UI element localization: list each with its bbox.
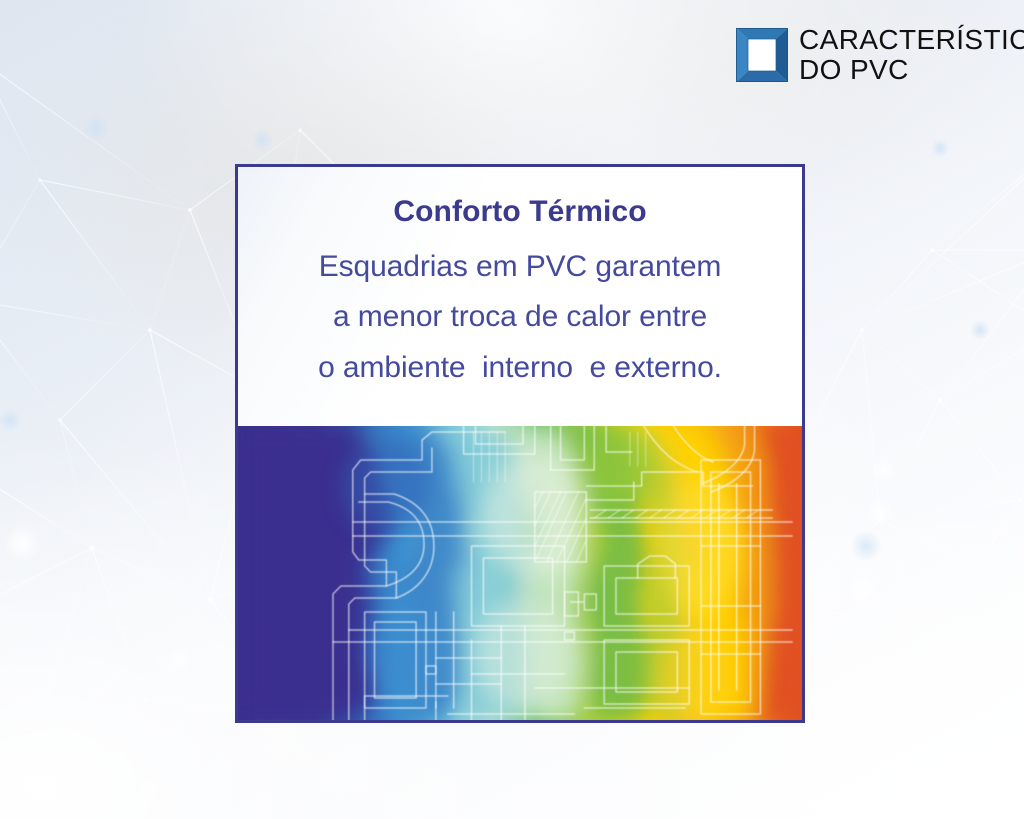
card-body-line-2: a menor troca de calor entre (256, 292, 784, 342)
brand-logo-text: CARACTERÍSTICAS DO PVC (799, 26, 1024, 84)
poster-canvas: CARACTERÍSTICAS DO PVC Conforto Térmico … (0, 0, 1024, 819)
card-text-panel: Conforto Térmico Esquadrias em PVC garan… (238, 167, 802, 426)
window-frame-icon (736, 28, 788, 82)
card-body-line-1: Esquadrias em PVC garantem (256, 242, 784, 292)
brand-logo-line-1: CARACTERÍSTICAS (799, 26, 1024, 54)
brand-logo-line-2: DO PVC (799, 56, 1024, 84)
content-card: Conforto Térmico Esquadrias em PVC garan… (235, 164, 805, 723)
brand-logo: CARACTERÍSTICAS DO PVC (736, 26, 1024, 84)
card-headline: Conforto Térmico (256, 195, 784, 228)
thermal-simulation-image (238, 426, 802, 720)
card-body-line-3: o ambiente interno e externo. (256, 343, 784, 393)
